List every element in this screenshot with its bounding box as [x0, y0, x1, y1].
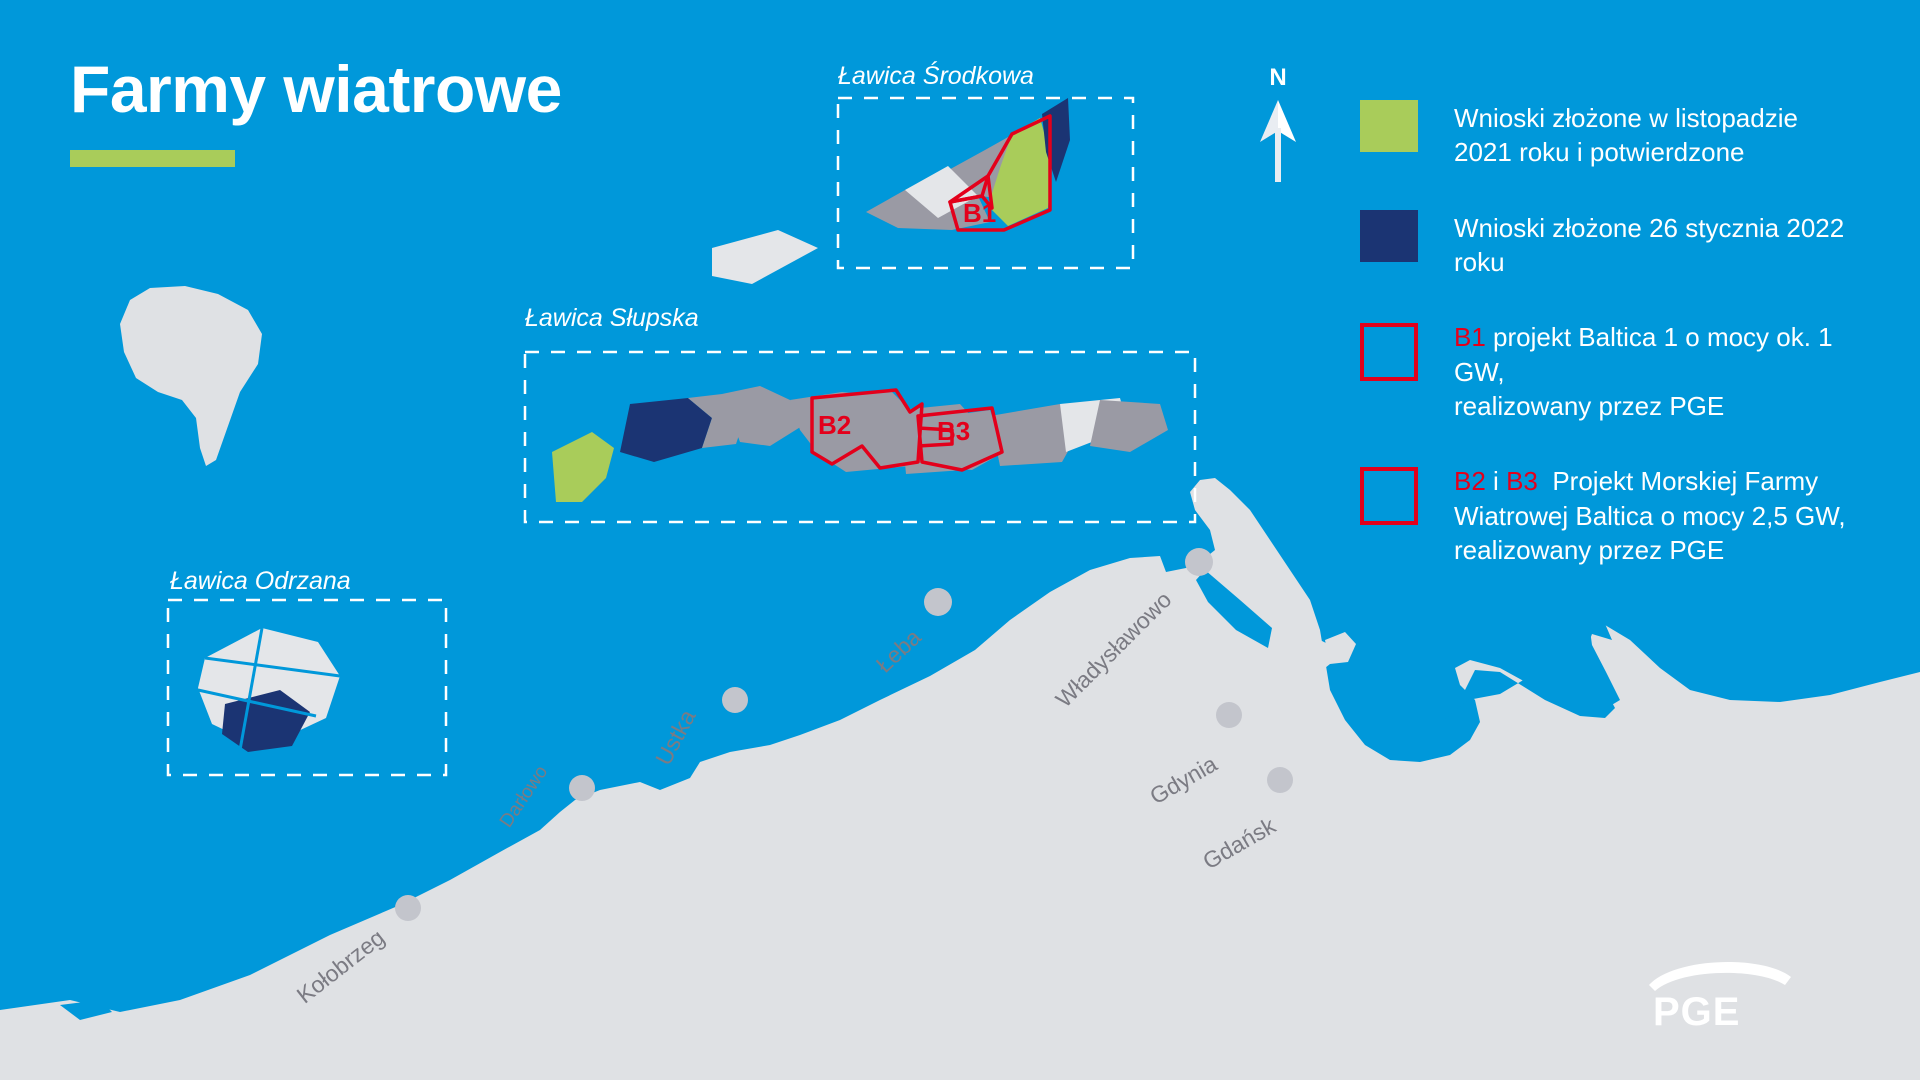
- legend-line: B2 i B3 Projekt Morskiej Farmy: [1454, 464, 1846, 498]
- infographic-canvas: B1 B2 B3 Farmy wiatrowe N Wnioski złożon…: [0, 0, 1920, 1080]
- map-code-b1: B1: [963, 198, 996, 228]
- page-title: Farmy wiatrowe: [70, 55, 690, 124]
- legend: Wnioski złożone w listopadzie 2021 roku …: [1360, 100, 1880, 567]
- area-label-lawica-slupska: Ławica Słupska: [525, 304, 699, 333]
- legend-line: realizowany przez PGE: [1454, 389, 1880, 423]
- legend-item-b2-b3[interactable]: B2 i B3 Projekt Morskiej Farmy Wiatrowej…: [1360, 463, 1880, 567]
- legend-line: Wiatrowej Baltica o mocy 2,5 GW,: [1454, 499, 1846, 533]
- north-arrow-icon: [1255, 98, 1301, 184]
- legend-item-b1[interactable]: B1 projekt Baltica 1 o mocy ok. 1 GW, re…: [1360, 319, 1880, 423]
- legend-line: B1 projekt Baltica 1 o mocy ok. 1 GW,: [1454, 320, 1880, 389]
- map-code-b2: B2: [818, 410, 851, 440]
- legend-line-text: projekt Baltica 1 o mocy ok. 1 GW,: [1454, 322, 1833, 386]
- legend-line: Wnioski złożone w listopadzie: [1454, 101, 1798, 135]
- area-label-lawica-srodkowa: Ławica Środkowa: [838, 62, 1034, 91]
- city-marker-gdynia: [1216, 702, 1242, 728]
- city-marker-ustka: [722, 687, 748, 713]
- legend-line: 2021 roku i potwierdzone: [1454, 135, 1798, 169]
- legend-swatch-navy: [1360, 210, 1418, 262]
- compass-label: N: [1255, 66, 1301, 90]
- legend-label-green: Wnioski złożone w listopadzie 2021 roku …: [1454, 100, 1798, 170]
- title-block: Farmy wiatrowe: [70, 55, 690, 167]
- title-accent-bar: [70, 150, 235, 167]
- pge-logo: PGE: [1645, 955, 1795, 1033]
- compass: N: [1255, 66, 1301, 189]
- legend-swatch-b2-b3-outline: [1360, 467, 1418, 525]
- city-marker-leba: [924, 588, 952, 616]
- legend-line-text: Projekt Morskiej Farmy: [1552, 466, 1818, 496]
- city-marker-kolobrzeg: [395, 895, 421, 921]
- city-marker-darlowo: [569, 775, 595, 801]
- map-code-b3: B3: [937, 416, 970, 446]
- area-label-lawica-odrzana: Ławica Odrzana: [170, 567, 351, 596]
- legend-conjunction: i: [1493, 466, 1499, 496]
- legend-item-green[interactable]: Wnioski złożone w listopadzie 2021 roku …: [1360, 100, 1880, 170]
- legend-item-navy[interactable]: Wnioski złożone 26 stycznia 2022 roku: [1360, 210, 1880, 280]
- legend-swatch-green: [1360, 100, 1418, 152]
- city-marker-gdansk: [1267, 767, 1293, 793]
- city-marker-wladyslawowo: [1185, 548, 1213, 576]
- legend-label-b1: B1 projekt Baltica 1 o mocy ok. 1 GW, re…: [1454, 319, 1880, 423]
- legend-label-b2-b3: B2 i B3 Projekt Morskiej Farmy Wiatrowej…: [1454, 463, 1846, 567]
- legend-code-b1: B1: [1454, 322, 1486, 352]
- pge-logo-text: PGE: [1653, 990, 1740, 1033]
- legend-label-navy: Wnioski złożone 26 stycznia 2022 roku: [1454, 210, 1880, 280]
- legend-line: Wnioski złożone 26 stycznia 2022 roku: [1454, 211, 1880, 280]
- legend-line: realizowany przez PGE: [1454, 533, 1846, 567]
- legend-code-b3: B3: [1506, 466, 1538, 496]
- legend-code-b2: B2: [1454, 466, 1486, 496]
- legend-swatch-b1-outline: [1360, 323, 1418, 381]
